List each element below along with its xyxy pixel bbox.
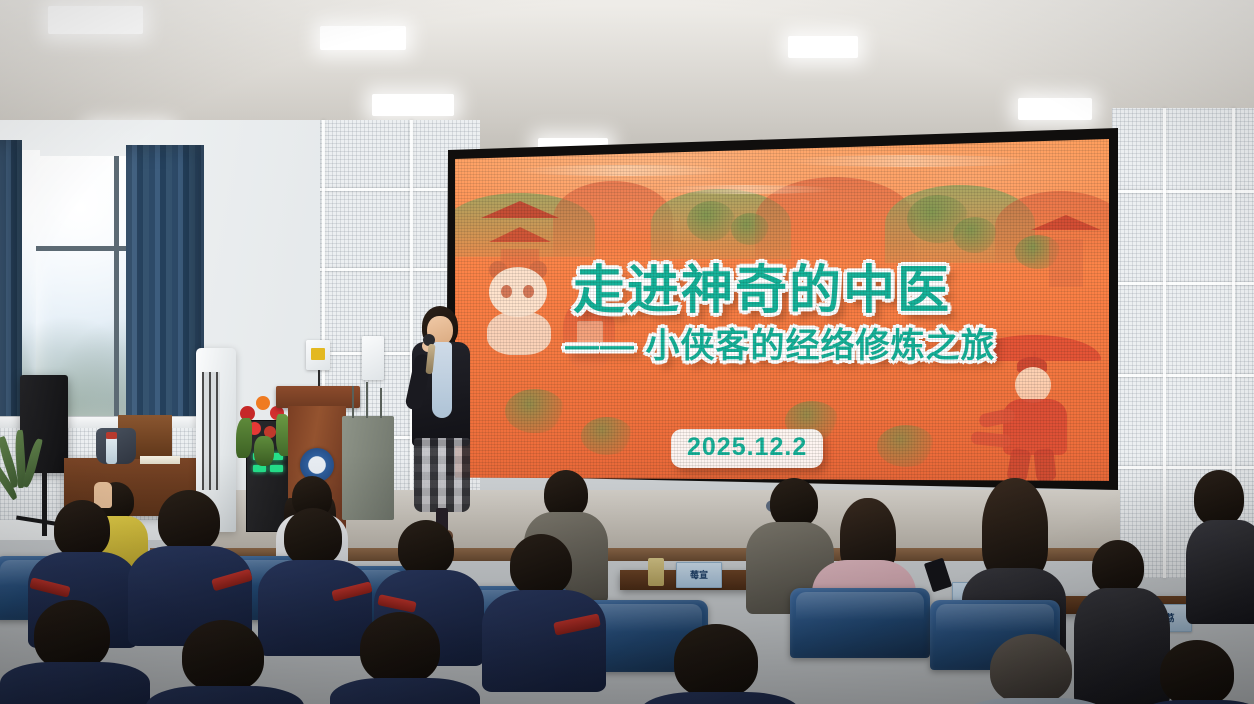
cabinet-antenna [352,386,354,418]
person-head [990,634,1072,704]
person-torso [0,662,150,704]
audience-member [1186,470,1254,620]
student [0,600,150,704]
person-head [54,500,110,558]
student [146,620,304,704]
flower-foliage [254,436,274,466]
person-torso [146,686,304,704]
name-placard: 莓宣 [676,562,722,588]
person-head [398,520,454,576]
ac-vent [202,372,220,490]
person-head [284,508,342,566]
podium-top [276,386,360,408]
student [482,534,606,684]
flower-foliage [236,418,252,458]
person-torso [330,678,480,704]
presenter-skirt [414,438,470,512]
ceiling-light-panel [1018,98,1092,120]
placard-text: 莓宣 [690,571,708,580]
smartphone[interactable] [924,558,952,593]
person-head [360,612,440,684]
ceiling-light-panel [372,94,454,116]
person-head [1160,640,1234,704]
cabinet-antenna [380,388,382,418]
person-torso [960,698,1110,704]
person-head [1092,540,1144,594]
person-head [182,620,264,692]
slide-text-layer: 走进神奇的中医 —— 小侠客的经络修炼之旅 2025.12.2 [455,139,1109,481]
person-head [34,600,110,670]
person-torso [482,590,606,692]
warning-label [311,348,325,360]
presenter-scarf [432,342,452,418]
wall-seam [1163,108,1166,578]
thermos-cup [648,558,664,586]
person-head [1194,470,1244,526]
person-head [982,478,1048,580]
presenter [398,306,484,544]
ceiling-light-panel [48,6,143,34]
electrical-box [306,340,330,370]
water-bottle [106,438,117,464]
papers-on-desk [140,456,180,464]
bottle-cap [106,432,117,439]
slide-title: 走进神奇的中医 [573,265,951,317]
curtain-left [0,140,22,440]
student [330,612,480,704]
led-screen-display[interactable]: 走进神奇的中医 —— 小侠客的经络修炼之旅 2025.12.2 [455,139,1109,481]
student [1136,640,1254,704]
wall-control-panel [362,336,384,380]
person-torso [640,692,800,704]
person-head [770,478,818,528]
slide-subtitle: —— 小侠客的经络修炼之旅 [565,329,995,363]
ceiling-light-panel [788,36,858,58]
person-head [510,534,572,596]
person-head [544,470,588,518]
student [640,624,800,704]
auditorium-seat[interactable] [790,588,930,658]
slide-date-badge: 2025.12.2 [671,429,823,468]
person-torso [1136,700,1254,704]
cabinet-antenna [366,382,368,418]
flower [256,396,270,410]
student [960,634,1110,704]
classroom-presentation-scene: 走进神奇的中医 —— 小侠客的经络修炼之旅 2025.12.2 [0,0,1254,704]
ceiling-light-panel [320,26,406,50]
person-torso [1186,520,1254,624]
person-head [674,624,758,698]
person-head [158,490,220,552]
side-cabinet [342,416,394,520]
